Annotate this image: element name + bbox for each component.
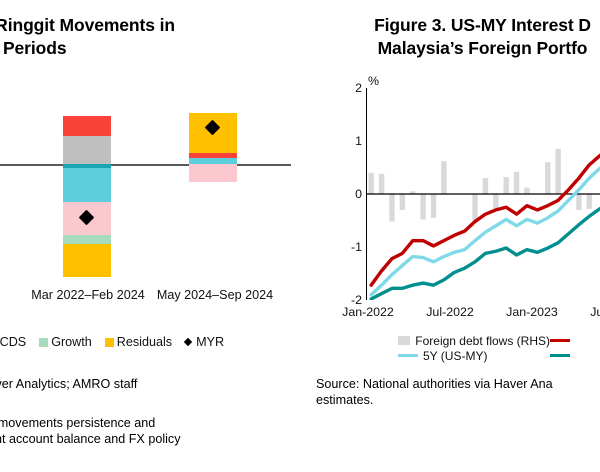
stacked-bar-mar2022-feb2024[interactable] (63, 105, 111, 280)
right-legend-row-1: Foreign debt flows (RHS) (398, 333, 600, 348)
left-figure-panel: rs of Ringgit Movements in ecent Periods (0, 0, 300, 472)
right-title-line-2: Malaysia’s Foreign Portfo (310, 37, 600, 60)
bar-segment-rates (63, 168, 111, 202)
bar-6 (431, 194, 436, 218)
line-icon-teal-series (550, 354, 570, 357)
left-source-text: es via Haver Analytics; AMRO staff (0, 376, 137, 392)
bar-13 (503, 177, 508, 194)
bar-14 (514, 172, 519, 194)
bar-7 (441, 161, 446, 194)
legend-label-growth: Growth (51, 335, 92, 349)
x-tick-2: Jan-2023 (494, 305, 570, 319)
bar-2 (389, 194, 394, 222)
y-tick-neg1: -1 (351, 240, 362, 254)
right-chart-plot-area (366, 88, 600, 300)
legend-label-myr: MYR (196, 335, 224, 349)
bar-segment-residuals (63, 244, 111, 277)
right-figure-panel: Figure 3. US-MY Interest D Malaysia’s Fo… (310, 0, 600, 472)
right-source-text: Source: National authorities via Haver A… (316, 376, 553, 409)
line-icon-5y-us-my (398, 354, 418, 357)
left-chart-category-labels: Mar 2022–Feb 2024 May 2024–Sep 2024 (0, 288, 293, 306)
line-teal-series (371, 191, 600, 299)
left-note-text: oth ringgit movements persistence and h … (0, 415, 181, 448)
bar-10 (472, 194, 477, 221)
bar-17 (545, 162, 550, 194)
legend-item-foreign-debt-flows[interactable]: Foreign debt flows (RHS) (398, 334, 550, 348)
left-chart-plot-area (0, 105, 293, 280)
right-chart-unit-label: % (368, 74, 379, 88)
block-icon-foreign-debt-flows (398, 336, 410, 345)
left-zero-axis-line (0, 164, 291, 166)
left-figure-title: rs of Ringgit Movements in ecent Periods (0, 14, 175, 60)
bar-20 (576, 194, 581, 210)
right-chart-x-axis-labels: Jan-2022 Jul-2022 Jan-2023 Jul-2023 (310, 305, 600, 323)
y-tick-1: 1 (355, 134, 362, 148)
x-tick-0: Jan-2022 (330, 305, 406, 319)
diamond-icon-myr (184, 338, 192, 346)
legend-item-myr[interactable]: MYR (185, 335, 224, 349)
bar-12 (493, 194, 498, 209)
legend-item-cds[interactable]: CDS (0, 335, 26, 349)
legend-item-growth[interactable]: Growth (39, 335, 92, 349)
right-source-line-1: Source: National authorities via Haver A… (316, 376, 553, 392)
line-icon-red-series (550, 339, 570, 342)
bar-3 (400, 194, 405, 210)
line-5y-us-my- (371, 145, 600, 294)
left-note-line-2: h as current account balance and FX poli… (0, 431, 181, 447)
legend-label-cds: CDS (0, 335, 26, 349)
bar2-segment-inflation (189, 164, 237, 182)
left-title-line-1: rs of Ringgit Movements in (0, 14, 175, 37)
bar-segment-growth (63, 235, 111, 244)
x-tick-3: Jul-2023 (576, 305, 600, 319)
right-chart-y-axis-labels: 2 1 0 -1 -2 (328, 88, 362, 300)
category-label-1: May 2024–Sep 2024 (135, 288, 295, 302)
y-tick-2: 2 (355, 81, 362, 95)
left-source-line-1: es via Haver Analytics; AMRO staff (0, 376, 137, 392)
bar-11 (483, 178, 488, 194)
bar-18 (555, 149, 560, 194)
left-title-line-2: ecent Periods (0, 37, 175, 60)
bar-21 (587, 194, 592, 209)
bar-segment-cds (63, 116, 111, 136)
right-figure-title: Figure 3. US-MY Interest D Malaysia’s Fo… (310, 14, 600, 60)
left-chart-legend: CNY CDS Growth Residuals MYR (0, 335, 300, 349)
legend-item-5y-us-my[interactable]: 5Y (US-MY) (398, 349, 550, 363)
square-icon-residuals (105, 338, 114, 347)
bar-5 (420, 194, 425, 219)
legend-item-teal-series[interactable] (550, 354, 575, 357)
right-legend-row-2: 5Y (US-MY) (398, 348, 600, 363)
figure-page: rs of Ringgit Movements in ecent Periods (0, 0, 600, 472)
right-chart-legend: Foreign debt flows (RHS) 5Y (US-MY) (398, 333, 600, 363)
legend-label-5y-us-my: 5Y (US-MY) (423, 349, 487, 363)
interest-differential-lines (371, 136, 600, 299)
bar-1 (379, 174, 384, 194)
x-tick-1: Jul-2022 (412, 305, 488, 319)
legend-label-foreign-debt-flows: Foreign debt flows (RHS) (415, 334, 550, 348)
bar-segment-cny (63, 136, 111, 166)
legend-label-residuals: Residuals (117, 335, 172, 349)
y-tick-0: 0 (355, 187, 362, 201)
right-source-line-2: estimates. (316, 392, 553, 408)
legend-item-red-series[interactable] (550, 339, 575, 342)
legend-item-residuals[interactable]: Residuals (105, 335, 172, 349)
square-icon-growth (39, 338, 48, 347)
right-chart-svg (366, 88, 600, 300)
stacked-bar-may2024-sep2024[interactable] (189, 105, 237, 280)
bar-0 (368, 173, 373, 194)
bar-15 (524, 188, 529, 194)
right-title-line-1: Figure 3. US-MY Interest D (310, 14, 600, 37)
left-note-line-1: oth ringgit movements persistence and (0, 415, 181, 431)
